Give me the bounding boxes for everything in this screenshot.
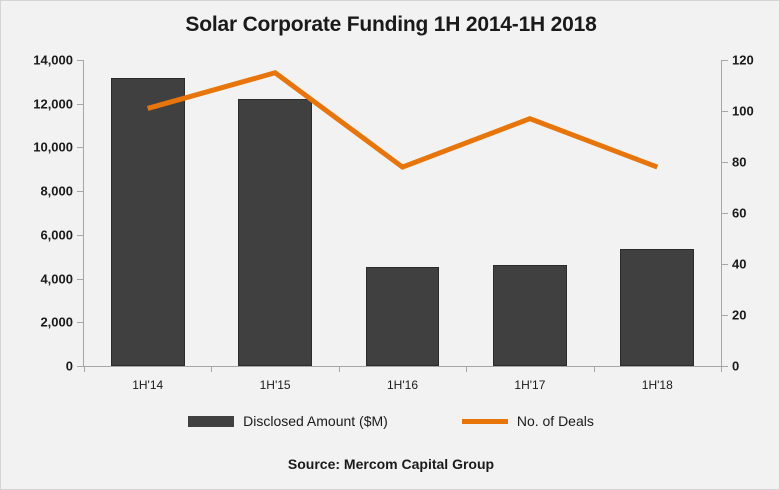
x-axis-tick-mark [594, 366, 595, 372]
y-axis-right-tick-mark [722, 60, 728, 61]
y-axis-right-tick-mark [722, 264, 728, 265]
y-axis-left-tick-mark [77, 322, 83, 323]
y-axis-left-tick-mark [77, 191, 83, 192]
x-axis-tick-label: 1H'16 [387, 378, 418, 392]
plot-area: 02,0004,0006,0008,00010,00012,00014,000 … [84, 60, 721, 366]
legend-item-no-of-deals: No. of Deals [462, 413, 594, 429]
y-axis-left-tick-mark [77, 235, 83, 236]
chart-title: Solar Corporate Funding 1H 2014-1H 2018 [1, 13, 780, 37]
y-axis-left-tick-label: 6,000 [40, 228, 73, 241]
y-axis-right-tick-label: 0 [732, 360, 739, 373]
x-axis-tick-mark [339, 366, 340, 372]
legend-label-disclosed-amount: Disclosed Amount ($M) [243, 413, 388, 429]
y-axis-left-tick-label: 4,000 [40, 272, 73, 285]
y-axis-right-tick-label: 40 [732, 258, 746, 271]
y-axis-left-tick-mark [77, 104, 83, 105]
y-axis-right-tick-label: 60 [732, 207, 746, 220]
y-axis-left-tick-mark [77, 366, 83, 367]
y-axis-left-tick-mark [77, 279, 83, 280]
legend-label-no-of-deals: No. of Deals [517, 413, 594, 429]
y-axis-right-tick-mark [722, 366, 728, 367]
y-axis-right-tick-mark [722, 315, 728, 316]
y-axis-left-tick-label: 14,000 [33, 54, 73, 67]
y-axis-right-tick-label: 100 [732, 105, 754, 118]
legend-item-disclosed-amount: Disclosed Amount ($M) [188, 413, 388, 429]
x-axis-tick-label: 1H'14 [132, 378, 163, 392]
chart-legend: Disclosed Amount ($M) No. of Deals [1, 413, 780, 429]
y-axis-left-tick-label: 0 [66, 360, 73, 373]
x-axis-tick-label: 1H'17 [514, 378, 545, 392]
y-axis-left-tick-mark [77, 60, 83, 61]
y-axis-left-tick-label: 2,000 [40, 316, 73, 329]
y-axis-left-tick-mark [77, 147, 83, 148]
x-axis-line [83, 366, 722, 367]
y-axis-right-tick-mark [722, 111, 728, 112]
x-axis-tick-mark [721, 366, 722, 372]
y-axis-right-tick-label: 20 [732, 309, 746, 322]
bar-swatch-icon [188, 416, 234, 427]
chart-figure: Solar Corporate Funding 1H 2014-1H 2018 … [0, 0, 780, 490]
deals-polyline [148, 73, 658, 167]
y-axis-right-tick-label: 120 [732, 54, 754, 67]
y-axis-left-tick-label: 8,000 [40, 185, 73, 198]
x-axis-tick-mark [466, 366, 467, 372]
source-note: Source: Mercom Capital Group [1, 456, 780, 472]
line-swatch-icon [462, 419, 508, 424]
line-series-no-of-deals [84, 60, 721, 366]
x-axis-tick-label: 1H'15 [260, 378, 291, 392]
y-axis-right-tick-mark [722, 162, 728, 163]
y-axis-right-tick-mark [722, 213, 728, 214]
x-axis-tick-label: 1H'18 [642, 378, 673, 392]
x-axis-tick-mark [84, 366, 85, 372]
y-axis-right-tick-label: 80 [732, 156, 746, 169]
x-axis-tick-mark [211, 366, 212, 372]
y-axis-left-tick-label: 12,000 [33, 97, 73, 110]
y-axis-left-tick-label: 10,000 [33, 141, 73, 154]
